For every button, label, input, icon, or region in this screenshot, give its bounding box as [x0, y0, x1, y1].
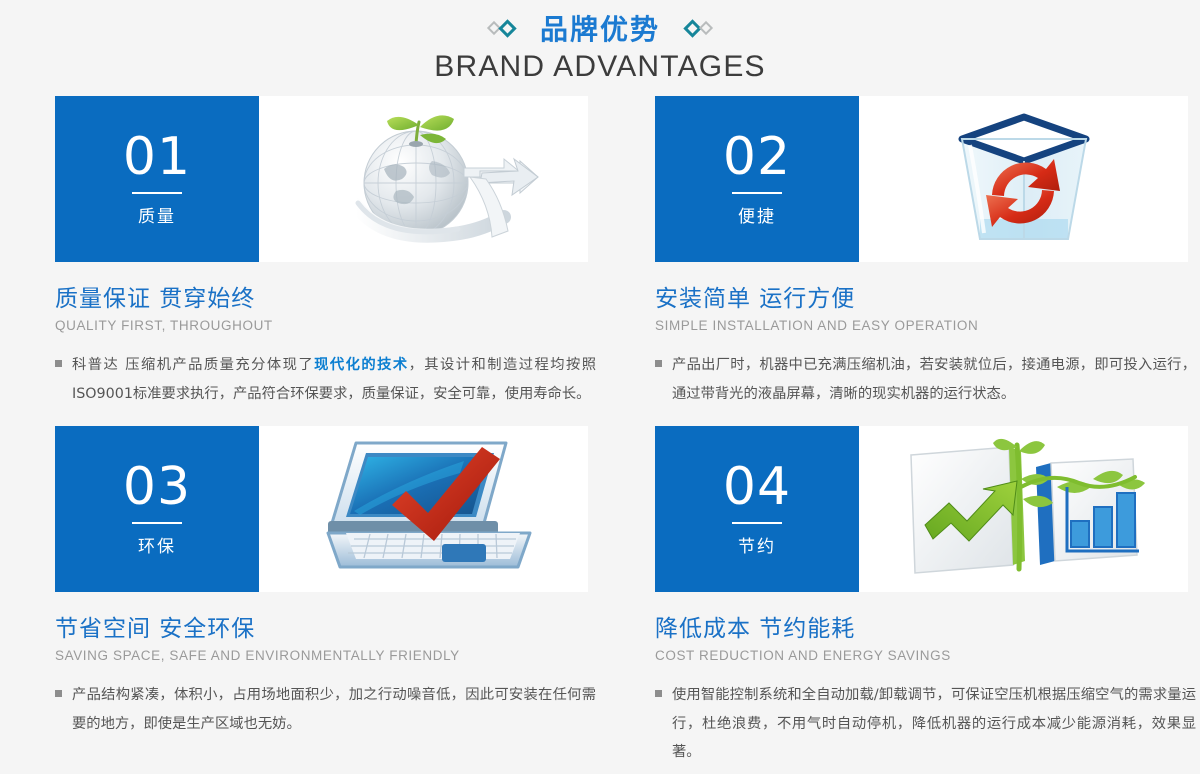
- card-media: 02 便捷: [655, 96, 1188, 262]
- card-image: [859, 96, 1188, 262]
- body-pre: 产品出厂时，机器中已充满压缩机油，若安装就位后，接通电源，即可投入运行，通过带背…: [672, 357, 1196, 402]
- card-number: 04: [723, 461, 791, 513]
- card-media: 03 环保: [55, 426, 588, 592]
- divider: [732, 192, 782, 194]
- divider: [732, 522, 782, 524]
- card-number-block: 03 环保: [55, 426, 259, 592]
- card-body: 科普达 压缩机产品质量充分体现了现代化的技术，其设计和制造过程均按照ISO900…: [55, 351, 600, 408]
- card-subtitle: SIMPLE INSTALLATION AND EASY OPERATION: [655, 318, 1200, 333]
- page-header: 品牌优势 BRAND ADVANTAGES: [0, 0, 1200, 96]
- divider: [132, 192, 182, 194]
- card-image: [859, 426, 1188, 592]
- advantage-card: 02 便捷: [655, 96, 1200, 426]
- recycle-bin-icon: [894, 99, 1154, 259]
- bullet-square-icon: [655, 360, 662, 367]
- card-body: 产品出厂时，机器中已充满压缩机油，若安装就位后，接通电源，即可投入运行，通过带背…: [655, 351, 1200, 408]
- card-body-text: 产品结构紧凑，体积小，占用场地面积少，加之行动噪音低，因此可安装在任何需要的地方…: [72, 681, 596, 738]
- card-keyword: 便捷: [738, 202, 776, 227]
- card-title: 安装简单 运行方便: [655, 279, 1200, 313]
- globe-sprout-arrow-icon: [284, 99, 564, 259]
- diamond-decoration-right: [686, 22, 711, 35]
- body-highlight: 现代化的技术: [314, 357, 408, 373]
- body-pre: 使用智能控制系统和全自动加载/卸载调节，可保证空压机根据压缩空气的需求量运行，杜…: [672, 687, 1196, 760]
- diamond-teal-icon: [498, 19, 516, 37]
- card-body: 产品结构紧凑，体积小，占用场地面积少，加之行动噪音低，因此可安装在任何需要的地方…: [55, 681, 600, 738]
- body-pre: 科普达 压缩机产品质量充分体现了: [72, 357, 314, 373]
- page-title-en: BRAND ADVANTAGES: [434, 50, 766, 84]
- card-subtitle: SAVING SPACE, SAFE AND ENVIRONMENTALLY F…: [55, 648, 600, 663]
- card-body-text: 使用智能控制系统和全自动加载/卸载调节，可保证空压机根据压缩空气的需求量运行，杜…: [672, 681, 1196, 767]
- laptop-checkmark-icon: [284, 429, 564, 589]
- bullet-square-icon: [55, 690, 62, 697]
- card-number: 02: [723, 131, 791, 183]
- card-title: 降低成本 节约能耗: [655, 609, 1200, 643]
- card-subtitle: QUALITY FIRST, THROUGHOUT: [55, 318, 600, 333]
- card-body-text: 产品出厂时，机器中已充满压缩机油，若安装就位后，接通电源，即可投入运行，通过带背…: [672, 351, 1196, 408]
- bullet-square-icon: [655, 690, 662, 697]
- card-number-block: 01 质量: [55, 96, 259, 262]
- card-image: [259, 426, 588, 592]
- card-media: 01 质量: [55, 96, 588, 262]
- card-keyword: 节约: [738, 532, 776, 557]
- advantage-card: 01 质量: [55, 96, 600, 426]
- advantage-card-grid: 01 质量: [0, 96, 1200, 756]
- divider: [132, 522, 182, 524]
- card-number: 03: [123, 461, 191, 513]
- card-title: 质量保证 贯穿始终: [55, 279, 600, 313]
- advantage-card: 03 环保: [55, 426, 600, 756]
- body-pre: 产品结构紧凑，体积小，占用场地面积少，加之行动噪音低，因此可安装在任何需要的地方…: [72, 687, 596, 732]
- diamond-gray-icon: [699, 21, 713, 35]
- card-number: 01: [123, 131, 191, 183]
- card-media: 04 节约: [655, 426, 1188, 592]
- advantage-card: 04 节约: [655, 426, 1200, 756]
- page-title-cn: 品牌优势: [540, 8, 660, 48]
- card-title: 节省空间 安全环保: [55, 609, 600, 643]
- card-keyword: 环保: [138, 532, 176, 557]
- bullet-square-icon: [55, 360, 62, 367]
- card-number-block: 02 便捷: [655, 96, 859, 262]
- card-image: [259, 96, 588, 262]
- card-subtitle: COST REDUCTION AND ENERGY SAVINGS: [655, 648, 1200, 663]
- header-title-row: 品牌优势: [489, 8, 711, 48]
- card-keyword: 质量: [138, 202, 176, 227]
- card-body-text: 科普达 压缩机产品质量充分体现了现代化的技术，其设计和制造过程均按照ISO900…: [72, 351, 596, 408]
- growth-chart-vine-icon: [881, 429, 1166, 589]
- diamond-decoration-left: [489, 22, 514, 35]
- card-number-block: 04 节约: [655, 426, 859, 592]
- card-body: 使用智能控制系统和全自动加载/卸载调节，可保证空压机根据压缩空气的需求量运行，杜…: [655, 681, 1200, 767]
